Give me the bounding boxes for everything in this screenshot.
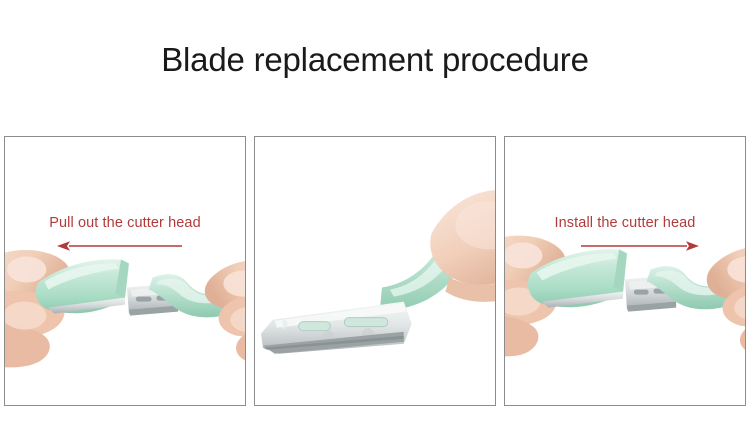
caption-install: Install the cutter head bbox=[505, 215, 745, 231]
image-panel-detached-head bbox=[254, 136, 496, 406]
caption-pull-out: Pull out the cutter head bbox=[5, 215, 245, 231]
arrow-right-icon bbox=[581, 240, 699, 252]
photo-install-cutter-head bbox=[505, 137, 745, 405]
image-panel-install: Install the cutter head bbox=[504, 136, 746, 406]
image-panel-pull-out: Pull out the cutter head bbox=[4, 136, 246, 406]
panel-strip: Pull out the cutter head bbox=[4, 136, 746, 406]
page-title: Blade replacement procedure bbox=[0, 40, 750, 80]
photo-pull-out-cutter-head bbox=[5, 137, 245, 405]
photo-detached-cutter-head bbox=[255, 137, 495, 405]
cutter-head-blade bbox=[261, 302, 412, 354]
arrow-left-icon bbox=[57, 240, 182, 252]
